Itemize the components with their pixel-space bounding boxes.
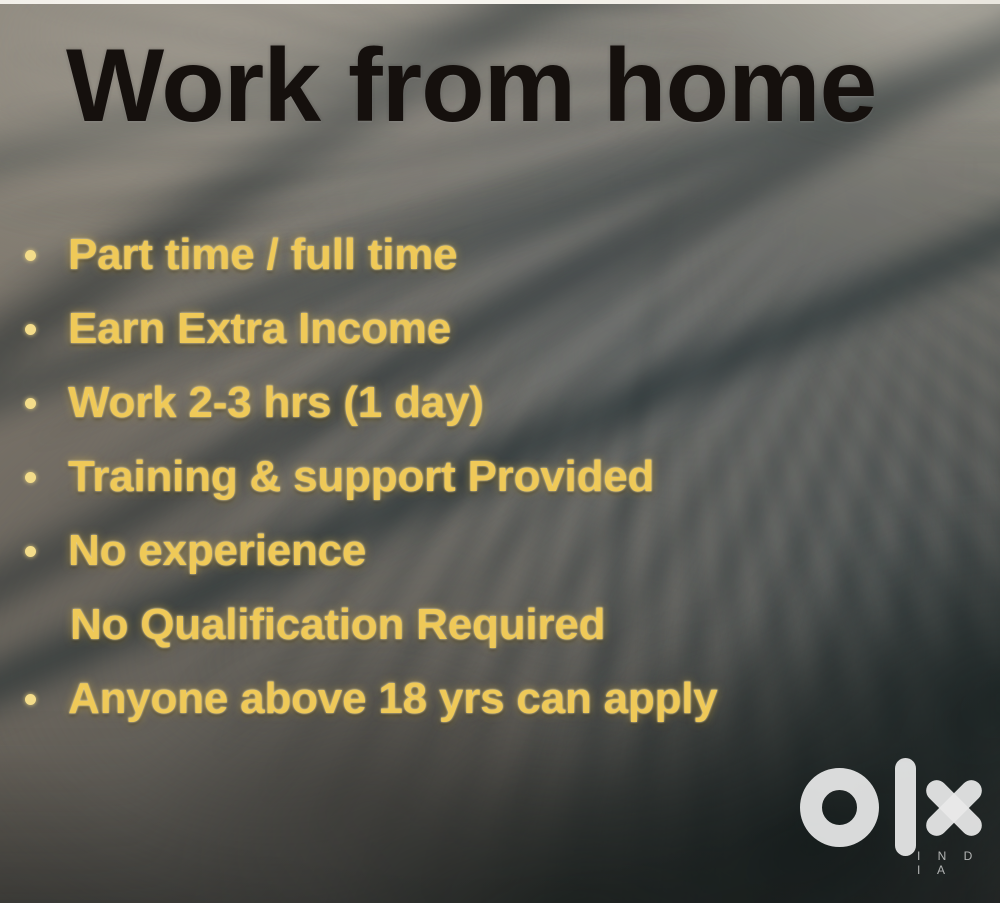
list-item-label: Training & support Provided	[68, 452, 654, 502]
olx-letter-l-icon	[895, 758, 916, 856]
list-item-label: No experience	[68, 526, 366, 576]
bullet-dot-icon	[25, 324, 36, 335]
list-item: Anyone above 18 yrs can apply	[0, 662, 1000, 736]
benefits-list: Part time / full time Earn Extra Income …	[0, 218, 1000, 736]
watermark-region-label: I N D I A	[917, 849, 980, 877]
poster-content: Work from home Part time / full time Ear…	[0, 0, 1000, 903]
bullet-dot-icon	[25, 472, 36, 483]
olx-letter-x-icon	[917, 771, 990, 844]
olx-letter-o-icon	[800, 768, 879, 847]
poster-title: Work from home	[66, 34, 876, 138]
bullet-dot-icon	[25, 250, 36, 261]
olx-india-watermark: I N D I A	[795, 757, 980, 875]
list-item: No Qualification Required	[0, 588, 1000, 662]
list-item-label: Work 2-3 hrs (1 day)	[68, 378, 484, 428]
list-item-label: Earn Extra Income	[68, 304, 451, 354]
list-item: Work 2-3 hrs (1 day)	[0, 366, 1000, 440]
bullet-dot-icon	[25, 398, 36, 409]
list-item: Training & support Provided	[0, 440, 1000, 514]
list-item-label: No Qualification Required	[70, 600, 605, 650]
list-item-label: Part time / full time	[68, 230, 457, 280]
list-item: Earn Extra Income	[0, 292, 1000, 366]
list-item: Part time / full time	[0, 218, 1000, 292]
list-item-label: Anyone above 18 yrs can apply	[68, 674, 718, 724]
bullet-dot-icon	[25, 546, 36, 557]
work-from-home-ad-poster: Work from home Part time / full time Ear…	[0, 0, 1000, 903]
list-item: No experience	[0, 514, 1000, 588]
bullet-dot-icon	[25, 694, 36, 705]
